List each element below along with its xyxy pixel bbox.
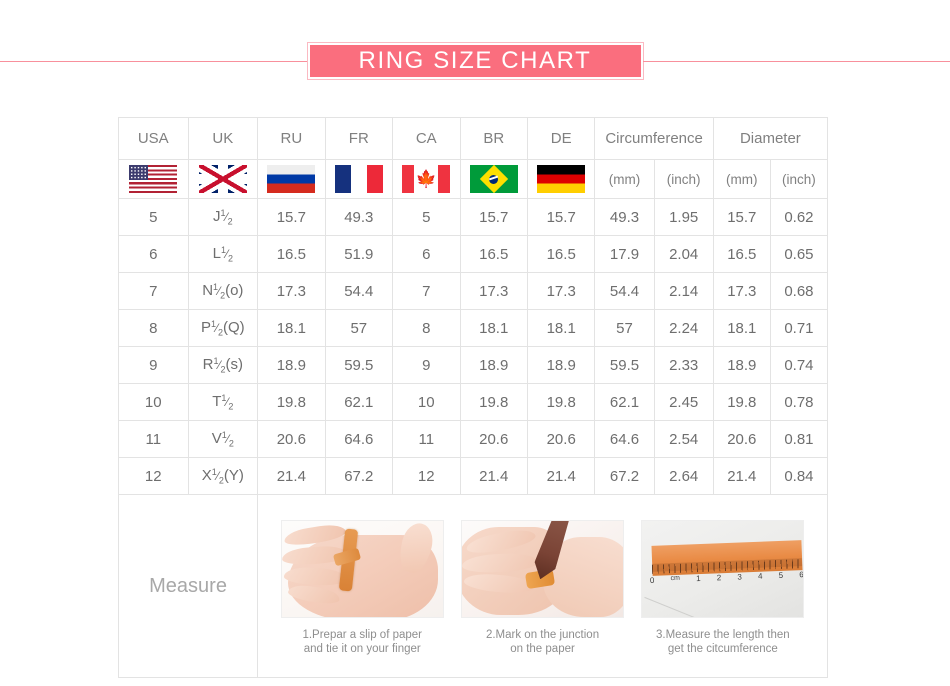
cell-fr: 54.4	[325, 273, 392, 310]
measure-label: Measure	[149, 575, 227, 597]
cell-circumference-inch: 2.54	[654, 421, 713, 458]
cell-br: 15.7	[460, 199, 527, 236]
cell-ca: 11	[393, 421, 460, 458]
cell-circumference-inch: 1.95	[654, 199, 713, 236]
cell-diameter-inch: 0.84	[770, 458, 827, 495]
ruler-tick-label: 6	[799, 570, 804, 579]
cell-circumference-inch: 2.14	[654, 273, 713, 310]
measure-step-1: 1.Prepar a slip of paper and tie it on y…	[274, 520, 450, 656]
cell-diameter-inch: 0.62	[770, 199, 827, 236]
cell-ca: 9	[393, 347, 460, 384]
column-header-uk: UK	[188, 118, 258, 160]
cell-fr: 62.1	[325, 384, 392, 421]
cell-uk: P1⁄2(Q)	[188, 310, 258, 347]
cell-de: 16.5	[527, 236, 594, 273]
cell-diameter-inch: 0.68	[770, 273, 827, 310]
cell-circumference-inch: 2.64	[654, 458, 713, 495]
cell-ca: 12	[393, 458, 460, 495]
table-row: 11V1⁄220.664.61120.620.664.62.5420.60.81	[119, 421, 828, 458]
cell-ca: 5	[393, 199, 460, 236]
table-header-names-row: USA UK RU FR CA BR DE Circumference Diam…	[119, 118, 828, 160]
unit-diameter-mm: (mm)	[713, 160, 770, 199]
table-body: 5J1⁄215.749.3515.715.749.31.9515.70.626L…	[119, 199, 828, 495]
cell-usa: 10	[119, 384, 189, 421]
maple-leaf-icon: 🍁	[416, 171, 437, 188]
caption-line-2: on the paper	[486, 642, 599, 656]
cell-circumference-mm: 49.3	[595, 199, 654, 236]
ruler-measuring-paper-photo: 0cm123456	[641, 520, 804, 618]
table-row: 10T1⁄219.862.11019.819.862.12.4519.80.78	[119, 384, 828, 421]
cell-br: 16.5	[460, 236, 527, 273]
flag-russia-icon	[267, 165, 315, 193]
caption-line-1: 1.Prepar a slip of paper	[302, 628, 422, 642]
cell-diameter-inch: 0.74	[770, 347, 827, 384]
paper-fold-line	[645, 597, 710, 618]
flag-germany-icon	[537, 165, 585, 193]
measure-step-3-caption: 3.Measure the length then get the citcum…	[656, 628, 790, 656]
cell-uk: J1⁄2	[188, 199, 258, 236]
cell-de: 18.1	[527, 310, 594, 347]
cell-diameter-inch: 0.78	[770, 384, 827, 421]
measure-steps: 1.Prepar a slip of paper and tie it on y…	[258, 508, 827, 664]
cell-de: 15.7	[527, 199, 594, 236]
column-header-de: DE	[527, 118, 594, 160]
cell-diameter-inch: 0.81	[770, 421, 827, 458]
ruler-tick-label: 1	[696, 574, 701, 583]
cell-de: 21.4	[527, 458, 594, 495]
cell-uk: R1⁄2(s)	[188, 347, 258, 384]
cell-ca: 10	[393, 384, 460, 421]
ruler-tick-label: cm	[671, 575, 681, 582]
unit-diameter-inch: (inch)	[770, 160, 827, 199]
flag-cell-usa	[119, 160, 189, 199]
column-header-ca: CA	[393, 118, 460, 160]
cell-diameter-mm: 15.7	[713, 199, 770, 236]
table-row: 8P1⁄2(Q)18.157818.118.1572.2418.10.71	[119, 310, 828, 347]
flag-canada-icon: 🍁	[402, 165, 450, 193]
page-title-banner: RING SIZE CHART	[0, 41, 950, 81]
cell-uk: V1⁄2	[188, 421, 258, 458]
ruler-tick-label: 3	[738, 572, 743, 581]
cell-ru: 18.9	[258, 347, 325, 384]
column-header-fr: FR	[325, 118, 392, 160]
flag-cell-ru	[258, 160, 325, 199]
cell-br: 18.1	[460, 310, 527, 347]
measure-steps-cell: 1.Prepar a slip of paper and tie it on y…	[258, 495, 828, 678]
caption-line-1: 3.Measure the length then	[656, 628, 790, 642]
cell-ca: 7	[393, 273, 460, 310]
cell-circumference-inch: 2.04	[654, 236, 713, 273]
cell-fr: 67.2	[325, 458, 392, 495]
cell-ru: 20.6	[258, 421, 325, 458]
flag-uk-icon	[199, 165, 247, 193]
column-header-ru: RU	[258, 118, 325, 160]
flag-brazil-icon	[470, 165, 518, 193]
cell-usa: 8	[119, 310, 189, 347]
measure-step-3: 0cm123456 3.Measure the length then get …	[635, 520, 811, 656]
cell-fr: 49.3	[325, 199, 392, 236]
cell-fr: 64.6	[325, 421, 392, 458]
cell-circumference-inch: 2.24	[654, 310, 713, 347]
column-header-br: BR	[460, 118, 527, 160]
cell-circumference-mm: 59.5	[595, 347, 654, 384]
column-header-usa: USA	[119, 118, 189, 160]
cell-ru: 21.4	[258, 458, 325, 495]
page-title: RING SIZE CHART	[359, 47, 592, 75]
cell-uk: L1⁄2	[188, 236, 258, 273]
cell-circumference-mm: 64.6	[595, 421, 654, 458]
flag-cell-uk	[188, 160, 258, 199]
flag-cell-fr	[325, 160, 392, 199]
unit-circumference-inch: (inch)	[654, 160, 713, 199]
flag-france-icon	[335, 165, 383, 193]
cell-br: 20.6	[460, 421, 527, 458]
cell-usa: 7	[119, 273, 189, 310]
caption-line-1: 2.Mark on the junction	[486, 628, 599, 642]
table-row: 9R1⁄2(s)18.959.5918.918.959.52.3318.90.7…	[119, 347, 828, 384]
measure-row: Measure 1.Prepar a slip	[119, 495, 828, 678]
title-rule-left	[0, 61, 308, 62]
cell-circumference-inch: 2.33	[654, 347, 713, 384]
cell-diameter-mm: 19.8	[713, 384, 770, 421]
cell-ru: 18.1	[258, 310, 325, 347]
cell-diameter-mm: 20.6	[713, 421, 770, 458]
ruler-tick-label: 5	[779, 571, 784, 580]
cell-de: 17.3	[527, 273, 594, 310]
cell-ru: 17.3	[258, 273, 325, 310]
column-header-circumference: Circumference	[595, 118, 713, 160]
cell-br: 19.8	[460, 384, 527, 421]
cell-usa: 12	[119, 458, 189, 495]
cell-usa: 11	[119, 421, 189, 458]
ruler-tick-label: 0	[650, 576, 655, 585]
hand-with-paper-strip-photo	[281, 520, 444, 618]
table-header-flags-row: 🍁 (mm) (inch) (mm) (inch)	[119, 160, 828, 199]
cell-diameter-mm: 18.1	[713, 310, 770, 347]
unit-circumference-mm: (mm)	[595, 160, 654, 199]
flag-cell-br	[460, 160, 527, 199]
measure-step-2-caption: 2.Mark on the junction on the paper	[486, 628, 599, 656]
cell-ru: 16.5	[258, 236, 325, 273]
cell-ca: 6	[393, 236, 460, 273]
cell-uk: X1⁄2(Y)	[188, 458, 258, 495]
cell-br: 18.9	[460, 347, 527, 384]
title-banner-box: RING SIZE CHART	[308, 43, 643, 79]
table-row: 6L1⁄216.551.9616.516.517.92.0416.50.65	[119, 236, 828, 273]
cell-uk: T1⁄2	[188, 384, 258, 421]
ring-size-table: USA UK RU FR CA BR DE Circumference Diam…	[118, 117, 828, 678]
cell-ca: 8	[393, 310, 460, 347]
cell-de: 20.6	[527, 421, 594, 458]
cell-diameter-mm: 16.5	[713, 236, 770, 273]
table-row: 12X1⁄2(Y)21.467.21221.421.467.22.6421.40…	[119, 458, 828, 495]
cell-circumference-mm: 62.1	[595, 384, 654, 421]
table-row: 5J1⁄215.749.3515.715.749.31.9515.70.62	[119, 199, 828, 236]
cell-br: 21.4	[460, 458, 527, 495]
caption-line-2: and tie it on your finger	[302, 642, 422, 656]
title-rule-right	[643, 61, 950, 62]
flag-cell-de	[527, 160, 594, 199]
cell-de: 19.8	[527, 384, 594, 421]
cell-br: 17.3	[460, 273, 527, 310]
ring-size-chart-page: { "header": { "title": "RING SIZE CHART"…	[0, 0, 950, 686]
cell-diameter-inch: 0.71	[770, 310, 827, 347]
cell-de: 18.9	[527, 347, 594, 384]
cell-diameter-mm: 17.3	[713, 273, 770, 310]
cell-fr: 57	[325, 310, 392, 347]
measure-step-2: 2.Mark on the junction on the paper	[455, 520, 631, 656]
cell-circumference-mm: 54.4	[595, 273, 654, 310]
cell-circumference-mm: 57	[595, 310, 654, 347]
cell-diameter-mm: 21.4	[713, 458, 770, 495]
cell-circumference-inch: 2.45	[654, 384, 713, 421]
ruler-tick-label: 4	[758, 572, 763, 581]
column-header-diameter: Diameter	[713, 118, 827, 160]
measure-step-1-caption: 1.Prepar a slip of paper and tie it on y…	[302, 628, 422, 656]
flag-usa-icon	[129, 165, 177, 193]
cell-usa: 6	[119, 236, 189, 273]
table-row: 7N1⁄2(o)17.354.4717.317.354.42.1417.30.6…	[119, 273, 828, 310]
caption-line-2: get the citcumference	[656, 642, 790, 656]
cell-usa: 9	[119, 347, 189, 384]
cell-ru: 15.7	[258, 199, 325, 236]
marking-paper-with-pen-photo	[461, 520, 624, 618]
cell-ru: 19.8	[258, 384, 325, 421]
measure-label-cell: Measure	[119, 495, 258, 678]
cell-circumference-mm: 67.2	[595, 458, 654, 495]
ruler-tick-label: 2	[717, 573, 722, 582]
cell-diameter-mm: 18.9	[713, 347, 770, 384]
flag-cell-ca: 🍁	[393, 160, 460, 199]
cell-usa: 5	[119, 199, 189, 236]
cell-diameter-inch: 0.65	[770, 236, 827, 273]
cell-fr: 59.5	[325, 347, 392, 384]
cell-uk: N1⁄2(o)	[188, 273, 258, 310]
cell-fr: 51.9	[325, 236, 392, 273]
cell-circumference-mm: 17.9	[595, 236, 654, 273]
